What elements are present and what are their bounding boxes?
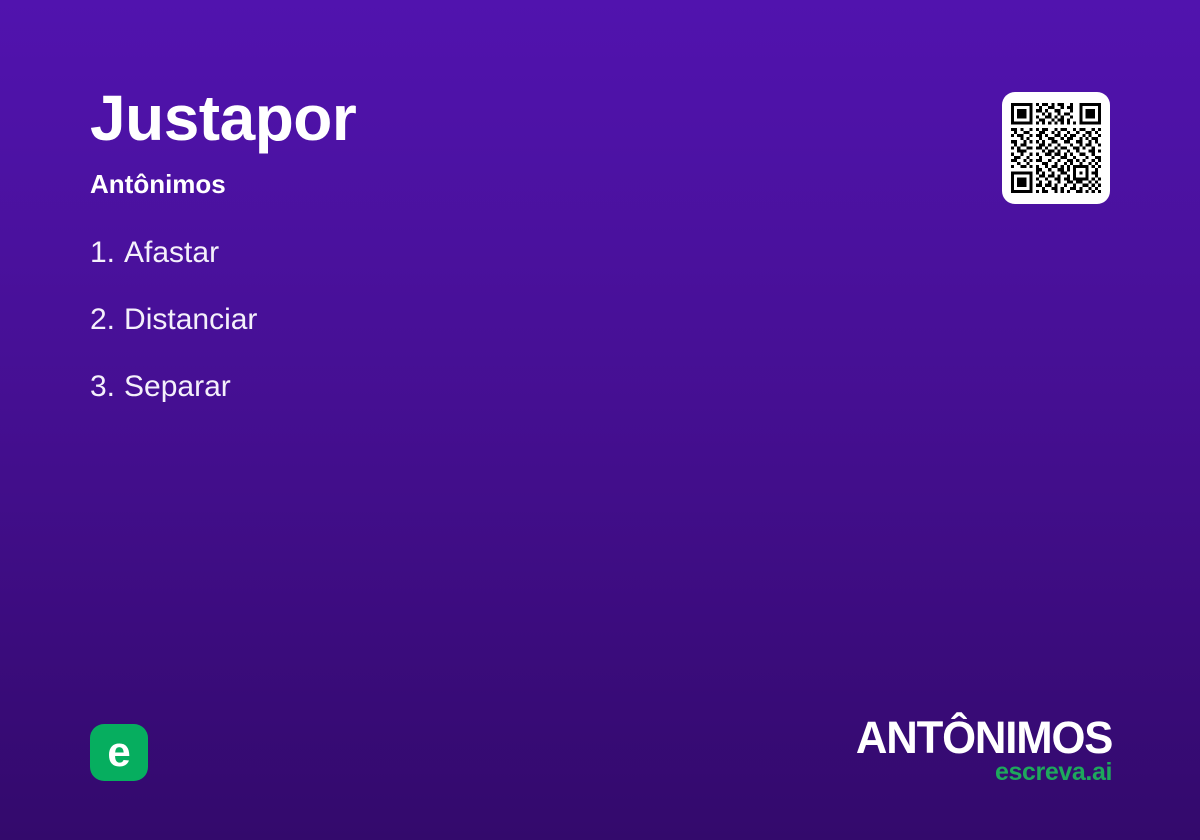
brand-badge-letter: e bbox=[107, 731, 130, 773]
list-item-index: 1. bbox=[90, 236, 115, 269]
list-item: 2.Distanciar bbox=[90, 305, 257, 335]
list-item-label: Distanciar bbox=[124, 303, 257, 336]
qr-code-card[interactable] bbox=[1002, 92, 1110, 204]
list-item-index: 2. bbox=[90, 303, 115, 336]
list-item: 1.Afastar bbox=[90, 238, 257, 268]
list-item-index: 3. bbox=[90, 370, 115, 403]
category-subtitle: Antônimos bbox=[90, 171, 356, 197]
footer-logo-subtitle: escreva.ai bbox=[848, 760, 1112, 785]
list-item-label: Afastar bbox=[124, 236, 219, 269]
footer-logo: ANTÔNIMOS escreva.ai bbox=[848, 717, 1112, 785]
antonyms-card: Justapor Antônimos 1.Afastar 2.Distancia… bbox=[0, 0, 1200, 840]
list-item: 3.Separar bbox=[90, 372, 257, 402]
escreva-e-logo-icon[interactable]: e bbox=[90, 724, 148, 781]
footer-logo-title: ANTÔNIMOS bbox=[856, 717, 1112, 758]
list-item-label: Separar bbox=[124, 370, 231, 403]
header: Justapor Antônimos bbox=[90, 86, 356, 197]
antonyms-list: 1.Afastar 2.Distanciar 3.Separar bbox=[90, 238, 257, 402]
qr-code-icon bbox=[1011, 103, 1101, 193]
page-title: Justapor bbox=[90, 86, 356, 150]
